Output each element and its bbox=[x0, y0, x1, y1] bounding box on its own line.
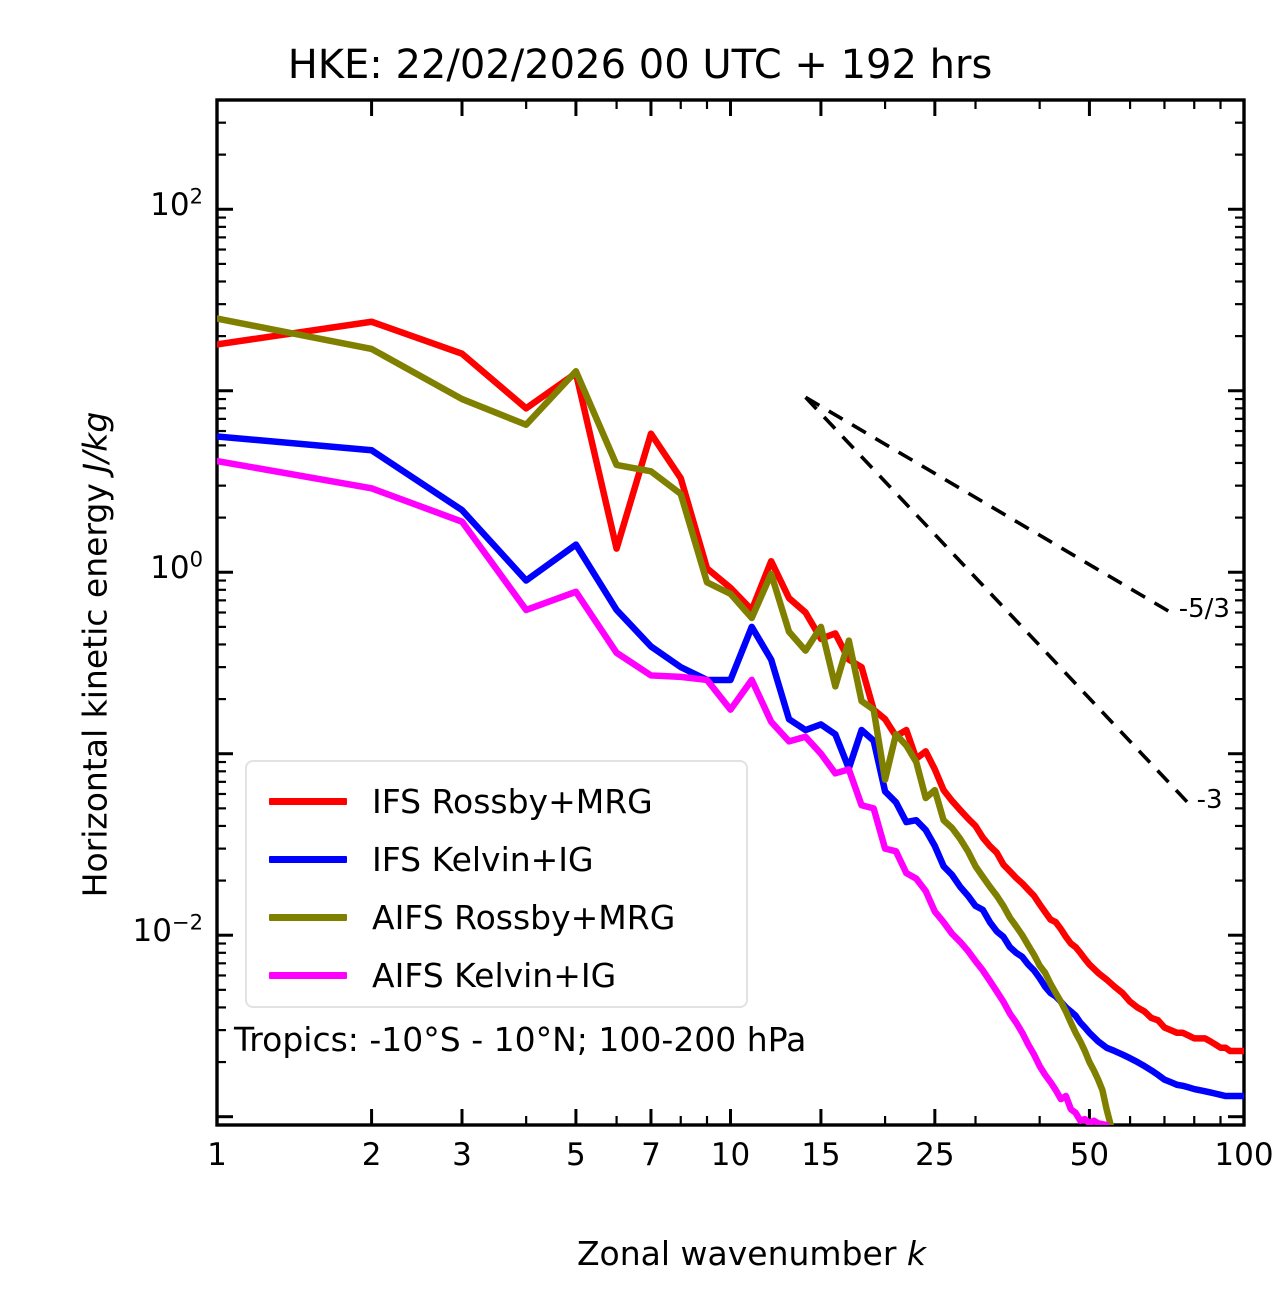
x-tick-label: 1 bbox=[157, 1137, 277, 1173]
y-axis-label-text: Horizontal kinetic energy bbox=[76, 473, 115, 898]
y-tick-label: 100 bbox=[3, 550, 203, 586]
legend-color-swatch bbox=[269, 914, 347, 921]
reference-line-3 bbox=[806, 397, 1189, 803]
figure-canvas: HKE: 22/02/2026 00 UTC + 192 hrs Horizon… bbox=[0, 0, 1280, 1288]
x-axis-label-text: Zonal wavenumber bbox=[577, 1234, 907, 1273]
reference-lines bbox=[806, 397, 1189, 803]
x-tick-label: 25 bbox=[875, 1137, 995, 1173]
legend: IFS Rossby+MRGIFS Kelvin+IGAIFS Rossby+M… bbox=[245, 760, 748, 1008]
legend-item-aifs-rossby-mrg[interactable]: AIFS Rossby+MRG bbox=[247, 888, 746, 946]
legend-color-swatch bbox=[269, 798, 347, 805]
reference-slope-label: -5/3 bbox=[1179, 594, 1230, 624]
legend-item-ifs-kelvin-ig[interactable]: IFS Kelvin+IG bbox=[247, 830, 746, 888]
x-tick-label: 3 bbox=[402, 1137, 522, 1173]
region-annotation: Tropics: -10°S - 10°N; 100-200 hPa bbox=[234, 1020, 806, 1059]
legend-item-label: IFS Kelvin+IG bbox=[372, 843, 594, 876]
x-axis-label-symbol: k bbox=[907, 1234, 926, 1273]
reference-line-53 bbox=[806, 397, 1171, 612]
x-tick-label: 100 bbox=[1184, 1137, 1280, 1173]
y-axis-label-unit: J/kg bbox=[76, 412, 115, 473]
y-tick-label: 102 bbox=[3, 187, 203, 223]
reference-slope-label: -3 bbox=[1197, 785, 1223, 815]
legend-color-swatch bbox=[269, 972, 347, 979]
legend-item-label: AIFS Rossby+MRG bbox=[372, 901, 675, 934]
legend-item-aifs-kelvin-ig[interactable]: AIFS Kelvin+IG bbox=[247, 946, 746, 1004]
x-tick-label: 50 bbox=[1029, 1137, 1149, 1173]
legend-item-ifs-rossby-mrg[interactable]: IFS Rossby+MRG bbox=[247, 772, 746, 830]
legend-item-label: AIFS Kelvin+IG bbox=[372, 959, 616, 992]
legend-item-label: IFS Rossby+MRG bbox=[372, 785, 653, 818]
x-axis-label: Zonal wavenumber k bbox=[217, 1195, 1244, 1312]
legend-color-swatch bbox=[269, 856, 347, 863]
x-tick-label: 15 bbox=[761, 1137, 881, 1173]
y-tick-label: 10−2 bbox=[3, 913, 203, 949]
